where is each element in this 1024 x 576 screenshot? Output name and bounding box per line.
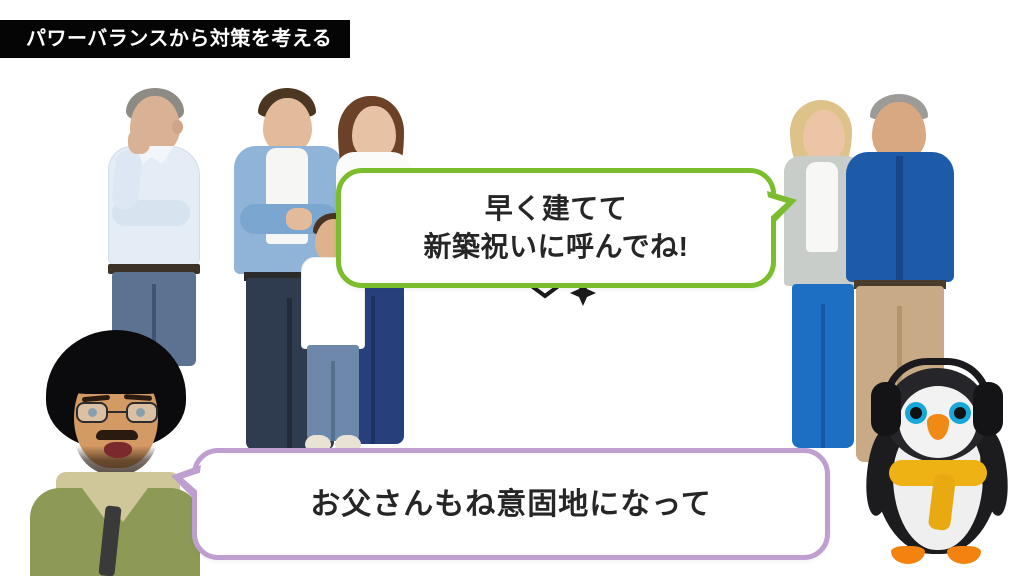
pupil-left: [910, 407, 922, 419]
head: [803, 110, 845, 162]
speech-bubble-green-text: 早く建てて 新築祝いに呼んでね!: [424, 190, 689, 265]
speech-bubble-purple-text: お父さんもね意固地になって: [310, 485, 712, 524]
speech-bubble-purple: お父さんもね意固地になって: [192, 448, 830, 560]
hand-on-chin: [128, 128, 150, 154]
avatar-afro-man: [30, 330, 200, 576]
foot-left: [891, 546, 925, 564]
headphone-cup-left: [871, 382, 901, 436]
slide-canvas: パワーバランスから対策を考える 早く建てて 新築祝いに呼んでね! お父さんもね意…: [0, 0, 1024, 576]
lens-right: [126, 402, 158, 423]
title-banner: パワーバランスから対策を考える: [0, 20, 350, 58]
mustache: [96, 430, 138, 440]
foot-right: [947, 546, 981, 564]
person-thinking-man: [100, 88, 208, 366]
glasses-icon: [76, 402, 158, 424]
shirt-placket: [896, 156, 903, 280]
leg-split: [821, 304, 825, 448]
glasses-bridge: [108, 411, 126, 413]
pupil-right: [954, 407, 966, 419]
speech-bubble-green: 早く建てて 新築祝いに呼んでね!: [336, 168, 776, 288]
leg-split: [371, 296, 375, 444]
leg-split: [331, 361, 335, 441]
page-title: パワーバランスから対策を考える: [26, 29, 332, 49]
leg-split: [287, 298, 292, 450]
white-tank-top: [806, 162, 838, 252]
penguin-mascot: [855, 352, 1020, 576]
lens-left: [76, 402, 108, 423]
headphone-cup-right: [973, 382, 1003, 436]
ear: [172, 120, 183, 134]
mouth: [104, 442, 132, 458]
